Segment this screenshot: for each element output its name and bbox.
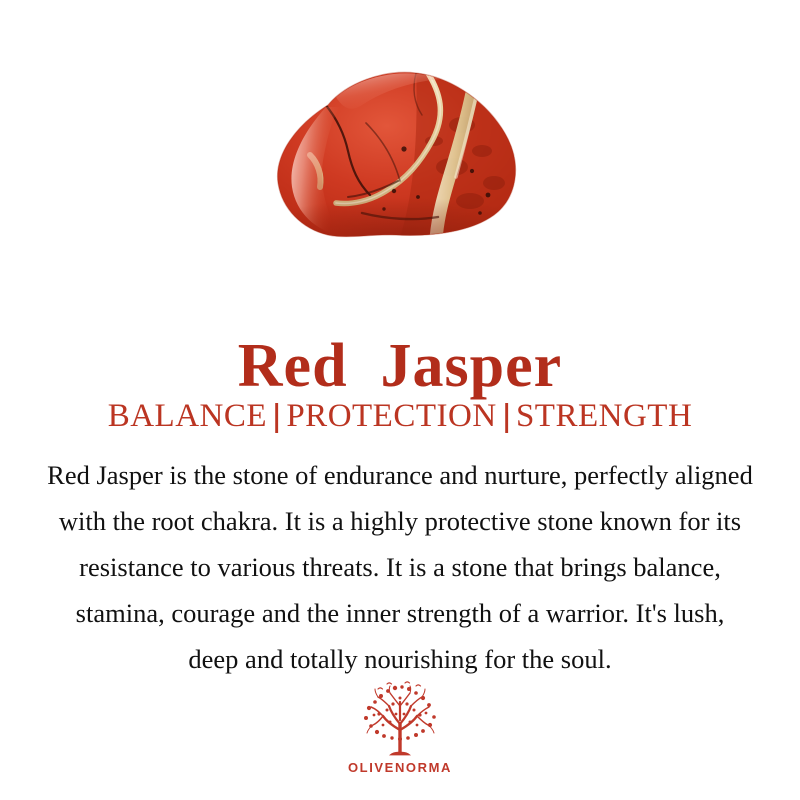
keyword-protection: PROTECTION <box>286 398 496 434</box>
hero-image-container <box>0 58 800 248</box>
tree-of-life-icon <box>357 680 443 758</box>
description-line: with the root chakra. It is a highly pro… <box>12 498 788 544</box>
description-line: stamina, courage and the inner strength … <box>12 590 788 636</box>
brand-name: OLIVENORMA <box>348 760 452 775</box>
keyword-balance: BALANCE <box>108 398 267 434</box>
product-info-card: Red Jasper BALANCE|PROTECTION|STRENGTH R… <box>0 0 800 800</box>
keyword-tagline: BALANCE|PROTECTION|STRENGTH <box>0 398 800 434</box>
description-line: deep and totally nourishing for the soul… <box>12 636 788 682</box>
description-line: Red Jasper is the stone of endurance and… <box>12 452 788 498</box>
keyword-separator-2: | <box>494 398 518 434</box>
description-paragraph: Red Jasper is the stone of endurance and… <box>12 452 788 682</box>
keyword-separator-1: | <box>265 398 289 434</box>
description-line: resistance to various threats. It is a s… <box>12 544 788 590</box>
page-title: Red Jasper <box>0 334 800 399</box>
keyword-strength: STRENGTH <box>516 398 692 434</box>
brand-logo: OLIVENORMA <box>0 680 800 775</box>
red-jasper-stone-image <box>266 63 534 243</box>
